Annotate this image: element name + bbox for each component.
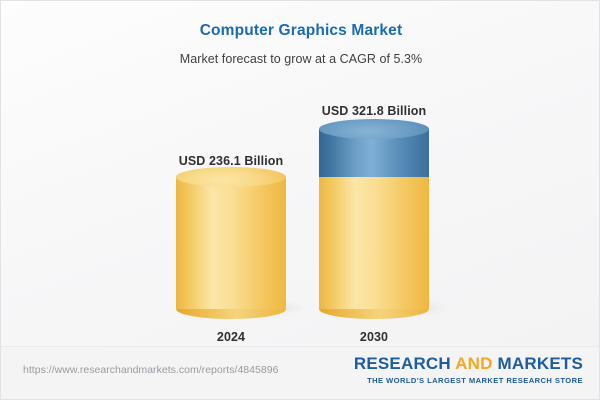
bar-cylinder-2030 xyxy=(319,129,429,309)
bar-group-2024: USD 236.1 Billion 2024 xyxy=(176,1,286,346)
cylinder-body xyxy=(319,177,429,309)
bar-value-label-2030: USD 321.8 Billion xyxy=(264,104,484,118)
cylinder-top-ellipse xyxy=(176,167,286,187)
brand-tagline: THE WORLD'S LARGEST MARKET RESEARCH STOR… xyxy=(354,376,583,385)
chart-figure: Computer Graphics Market Market forecast… xyxy=(0,0,600,400)
brand-name-part2: MARKETS xyxy=(493,354,583,373)
bar-category-label-2024: 2024 xyxy=(176,330,286,344)
bar-value-label-2024: USD 236.1 Billion xyxy=(121,154,341,168)
bar-segment-growth-2030 xyxy=(319,129,429,177)
plot-area: USD 236.1 Billion 2024 USD 321.8 Billion xyxy=(1,1,600,346)
bar-cylinder-2024 xyxy=(176,177,286,309)
bar-group-2030: USD 321.8 Billion 2030 xyxy=(319,1,429,346)
brand-name-part1: RESEARCH xyxy=(354,354,455,373)
brand-name: RESEARCH AND MARKETS xyxy=(354,354,583,374)
bar-category-label-2030: 2030 xyxy=(319,330,429,344)
cylinder-body xyxy=(176,177,286,309)
bar-segment-base-2024 xyxy=(176,177,286,309)
bar-segment-base-2030 xyxy=(319,177,429,309)
chart-footer: https://www.researchandmarkets.com/repor… xyxy=(1,346,600,399)
source-url[interactable]: https://www.researchandmarkets.com/repor… xyxy=(23,364,278,376)
brand-name-accent: AND xyxy=(455,354,492,373)
brand-logo[interactable]: RESEARCH AND MARKETS THE WORLD'S LARGEST… xyxy=(354,354,583,385)
cylinder-top-ellipse xyxy=(319,119,429,139)
